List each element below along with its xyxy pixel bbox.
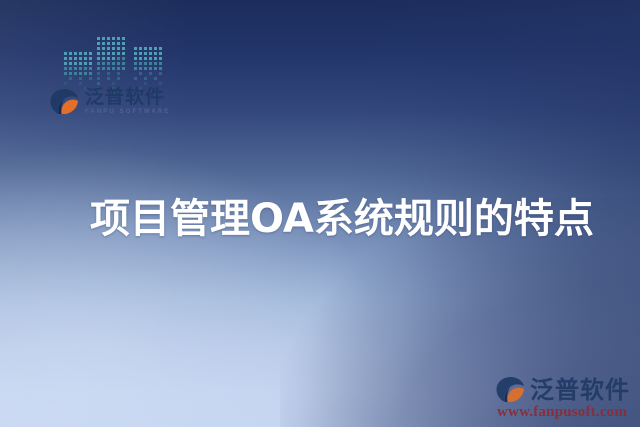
skyline-pixel (117, 57, 120, 60)
skyline-pixel (64, 52, 67, 55)
watermark-url: www.fanpusoft.com (497, 404, 627, 421)
skyline-pixel (107, 67, 110, 70)
skyline-pixel (69, 62, 72, 65)
skyline-pixel (144, 57, 147, 60)
skyline-pixel (97, 42, 100, 45)
skyline-pixel (84, 67, 87, 70)
skyline-pixel (107, 82, 110, 85)
skyline-pixel (74, 57, 77, 60)
skyline-pixel (112, 72, 115, 75)
skyline-pixel (102, 72, 105, 75)
skyline-pixel (79, 82, 82, 85)
skyline-pixel (112, 57, 115, 60)
skyline-pixel (154, 47, 157, 50)
skyline-pixel (74, 52, 77, 55)
skyline-pixel (149, 67, 152, 70)
page-title: 项目管理OA系统规则的特点 (90, 186, 594, 244)
skyline-tower-center (96, 36, 130, 91)
skyline-pixel (117, 62, 120, 65)
skyline-pixel (112, 52, 115, 55)
skyline-pixel (122, 62, 125, 65)
skyline-pixel (107, 47, 110, 50)
skyline-pixel (79, 77, 82, 80)
skyline-pixel (102, 47, 105, 50)
skyline-pixel (97, 62, 100, 65)
skyline-pixel (122, 52, 125, 55)
skyline-pixel (159, 77, 162, 80)
skyline-pixel (89, 82, 92, 85)
skyline-pixel (122, 42, 125, 45)
skyline-pixel (74, 77, 77, 80)
skyline-pixel (139, 47, 142, 50)
skyline-pixel (154, 67, 157, 70)
skyline-pixel (122, 67, 125, 70)
skyline-pixel (117, 37, 120, 40)
skyline-tower-left (63, 51, 93, 91)
skyline-pixel (97, 47, 100, 50)
skyline-pixel (154, 82, 157, 85)
skyline-pixel (84, 62, 87, 65)
skyline-pixel (159, 62, 162, 65)
skyline-pixel (102, 77, 105, 80)
skyline-pixel (122, 37, 125, 40)
skyline-pixel (144, 72, 147, 75)
skyline-pixel (159, 57, 162, 60)
skyline-pixel (154, 77, 157, 80)
skyline-pixel (64, 67, 67, 70)
skyline-pixel (97, 57, 100, 60)
skyline-pixel (154, 62, 157, 65)
skyline-pixel (149, 72, 152, 75)
skyline-pixel (149, 47, 152, 50)
skyline-pixel (134, 72, 137, 75)
skyline-pixel (112, 42, 115, 45)
skyline-pixel (122, 72, 125, 75)
skyline-pixel (69, 57, 72, 60)
skyline-pixel (134, 67, 137, 70)
skyline-pixel (69, 82, 72, 85)
skyline-pixel (74, 82, 77, 85)
skyline-pixel (79, 62, 82, 65)
skyline-pixel (117, 67, 120, 70)
skyline-pixel (74, 62, 77, 65)
skyline-pixel (107, 42, 110, 45)
skyline-pixel (139, 82, 142, 85)
skyline-pixel (122, 47, 125, 50)
skyline-pixel (144, 52, 147, 55)
fanpu-swoosh-logo-icon (49, 88, 79, 115)
skyline-pixel (79, 57, 82, 60)
skyline-pixel (102, 37, 105, 40)
skyline-tower-right (133, 46, 163, 91)
skyline-pixel (134, 77, 137, 80)
skyline-pixel (159, 72, 162, 75)
skyline-pixel (144, 77, 147, 80)
skyline-pixel (117, 77, 120, 80)
skyline-pixel (139, 52, 142, 55)
skyline-pixel (134, 62, 137, 65)
skyline-pixel (122, 57, 125, 60)
skyline-pixel (97, 77, 100, 80)
watermark: 泛普软件 www.fanpusoft.com (495, 376, 630, 421)
skyline-pixel (154, 57, 157, 60)
skyline-pixel (64, 77, 67, 80)
skyline-pixel (117, 47, 120, 50)
skyline-pixel (122, 82, 125, 85)
skyline-pixel (64, 62, 67, 65)
skyline-pixel (122, 77, 125, 80)
skyline-pixel (159, 52, 162, 55)
skyline-pixel (107, 57, 110, 60)
skyline-pixel (74, 72, 77, 75)
skyline-pixel (89, 67, 92, 70)
skyline-pixel (64, 82, 67, 85)
skyline-pixel (117, 72, 120, 75)
skyline-pixel (159, 67, 162, 70)
skyline-pixel (69, 77, 72, 80)
skyline-pixel (112, 62, 115, 65)
brand-name-cn: 泛普软件 (85, 88, 170, 107)
skyline-pixel (69, 52, 72, 55)
skyline-pixel (102, 42, 105, 45)
skyline-pixel (134, 47, 137, 50)
skyline-pixel (84, 77, 87, 80)
skyline-pixel (149, 62, 152, 65)
skyline-pixel (102, 62, 105, 65)
skyline-pixel (149, 57, 152, 60)
skyline-pixel (97, 82, 100, 85)
brand-name-en: FANPU SOFTWARE (85, 109, 170, 115)
skyline-pixel (149, 77, 152, 80)
skyline-pixel (89, 62, 92, 65)
skyline-pixel (144, 47, 147, 50)
skyline-pixel (154, 52, 157, 55)
skyline-pixel (159, 47, 162, 50)
brand-lockup-top: 泛普软件 FANPU SOFTWARE (49, 88, 170, 115)
skyline-pixel (107, 62, 110, 65)
brand-text-block: 泛普软件 FANPU SOFTWARE (85, 88, 170, 115)
fanpu-swoosh-logo-icon (495, 376, 525, 403)
skyline-pixel (74, 67, 77, 70)
skyline-pixel (64, 57, 67, 60)
skyline-pixel (84, 82, 87, 85)
skyline-pixel (139, 62, 142, 65)
skyline-pixel (102, 67, 105, 70)
skyline-pixel (69, 67, 72, 70)
skyline-pixel (149, 52, 152, 55)
skyline-pixel (97, 72, 100, 75)
watermark-brand-name: 泛普软件 (530, 378, 630, 402)
skyline-pixel (112, 67, 115, 70)
skyline-pixel (107, 77, 110, 80)
skyline-pixel (107, 37, 110, 40)
watermark-logo-row: 泛普软件 (495, 376, 630, 403)
skyline-pixel (117, 82, 120, 85)
skyline-pixel (134, 57, 137, 60)
skyline-pixel (89, 77, 92, 80)
skyline-pixel (79, 67, 82, 70)
skyline-pixel (112, 82, 115, 85)
skyline-pixel (97, 67, 100, 70)
skyline-pixel (107, 72, 110, 75)
skyline-pixel (117, 52, 120, 55)
skyline-pixel (102, 57, 105, 60)
skyline-pixel (139, 57, 142, 60)
skyline-pixel (64, 72, 67, 75)
skyline-pixel (134, 52, 137, 55)
skyline-pixel (139, 72, 142, 75)
skyline-pixel (102, 82, 105, 85)
pixel-city-skyline-icon (63, 29, 163, 91)
skyline-pixel (159, 82, 162, 85)
skyline-pixel (154, 72, 157, 75)
skyline-pixel (134, 82, 137, 85)
banner-image: 泛普软件 FANPU SOFTWARE 项目管理OA系统规则的特点 泛普软件 w… (0, 0, 640, 427)
skyline-pixel (69, 72, 72, 75)
skyline-pixel (144, 67, 147, 70)
skyline-pixel (117, 42, 120, 45)
skyline-pixel (79, 52, 82, 55)
skyline-pixel (84, 72, 87, 75)
skyline-pixel (112, 37, 115, 40)
skyline-pixel (112, 47, 115, 50)
skyline-pixel (89, 52, 92, 55)
skyline-pixel (144, 62, 147, 65)
skyline-pixel (84, 52, 87, 55)
skyline-pixel (149, 82, 152, 85)
skyline-pixel (107, 52, 110, 55)
skyline-pixel (139, 67, 142, 70)
skyline-pixel (97, 52, 100, 55)
skyline-pixel (139, 77, 142, 80)
skyline-pixel (144, 82, 147, 85)
skyline-pixel (112, 77, 115, 80)
skyline-pixel (84, 57, 87, 60)
skyline-pixel (79, 72, 82, 75)
skyline-pixel (97, 37, 100, 40)
skyline-pixel (89, 72, 92, 75)
skyline-pixel (89, 57, 92, 60)
skyline-pixel (102, 52, 105, 55)
